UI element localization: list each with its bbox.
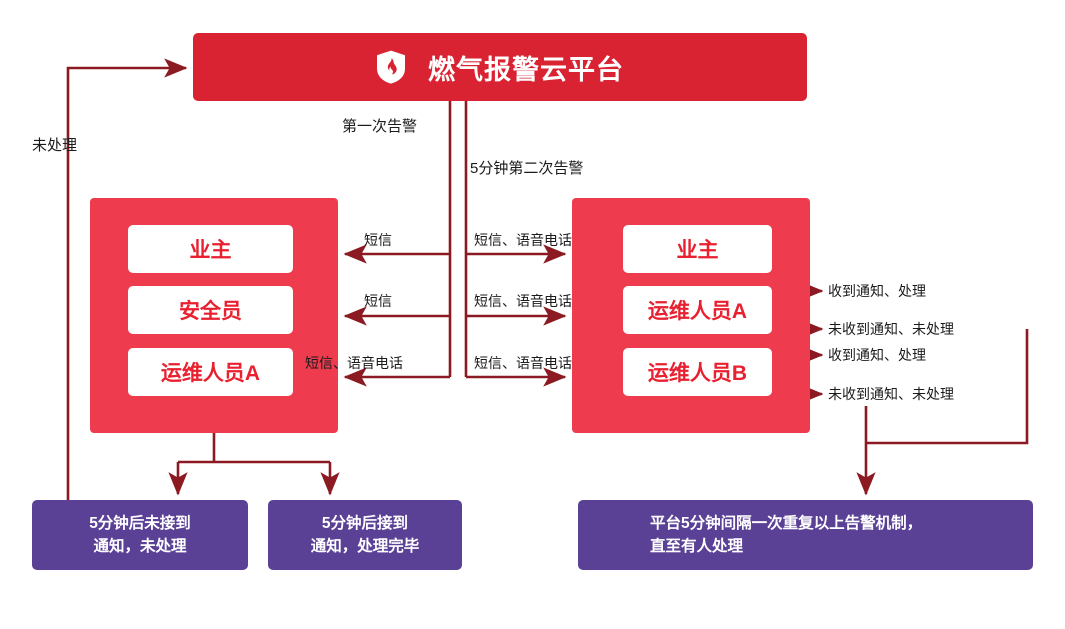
role-box-left-1[interactable]: 安全员 <box>128 286 293 334</box>
role-label: 安全员 <box>179 295 242 325</box>
label-unhandled: 未处理 <box>32 134 77 155</box>
outcome-box-handled: 5分钟后接到 通知，处理完毕 <box>268 500 462 570</box>
outcome-label-b-unhandled: 未收到通知、未处理 <box>828 384 954 404</box>
role-label: 业主 <box>677 234 719 264</box>
platform-header: 燃气报警云平台 <box>193 33 807 101</box>
role-box-right-2[interactable]: 运维人员B <box>623 348 772 396</box>
channel-label-left-1: 短信 <box>364 291 392 311</box>
role-label: 运维人员B <box>648 357 747 387</box>
outcome-box-no-notice: 5分钟后未接到 通知，未处理 <box>32 500 248 570</box>
alarm-escalation-diagram: 燃气报警云平台 未处理 第一次告警 5分钟第二次告警 业主 安全员 运维人员A … <box>0 0 1065 629</box>
label-first-alarm: 第一次告警 <box>342 115 417 136</box>
role-label: 运维人员A <box>648 295 747 325</box>
role-box-right-0[interactable]: 业主 <box>623 225 772 273</box>
outcome-text: 平台5分钟间隔一次重复以上告警机制， 直至有人处理 <box>650 512 922 559</box>
page-title: 燃气报警云平台 <box>428 48 624 87</box>
role-label: 运维人员A <box>161 357 260 387</box>
outcome-text: 5分钟后接到 通知，处理完毕 <box>311 512 420 559</box>
outcome-text: 5分钟后未接到 通知，未处理 <box>89 512 191 559</box>
role-box-right-1[interactable]: 运维人员A <box>623 286 772 334</box>
outcome-label-b-handled: 收到通知、处理 <box>828 345 926 365</box>
label-second-alarm: 5分钟第二次告警 <box>470 157 583 178</box>
channel-label-left-2: 短信、语音电话 <box>305 353 403 373</box>
role-box-left-2[interactable]: 运维人员A <box>128 348 293 396</box>
channel-label-left-0: 短信 <box>364 230 392 250</box>
outcome-box-repeat-mechanism: 平台5分钟间隔一次重复以上告警机制， 直至有人处理 <box>578 500 1033 570</box>
channel-label-right-2: 短信、语音电话 <box>474 353 572 373</box>
shield-flame-icon <box>376 50 406 84</box>
role-label: 业主 <box>190 234 232 264</box>
outcome-label-a-unhandled: 未收到通知、未处理 <box>828 319 954 339</box>
channel-label-right-0: 短信、语音电话 <box>474 230 572 250</box>
channel-label-right-1: 短信、语音电话 <box>474 291 572 311</box>
role-box-left-0[interactable]: 业主 <box>128 225 293 273</box>
outcome-label-a-handled: 收到通知、处理 <box>828 281 926 301</box>
